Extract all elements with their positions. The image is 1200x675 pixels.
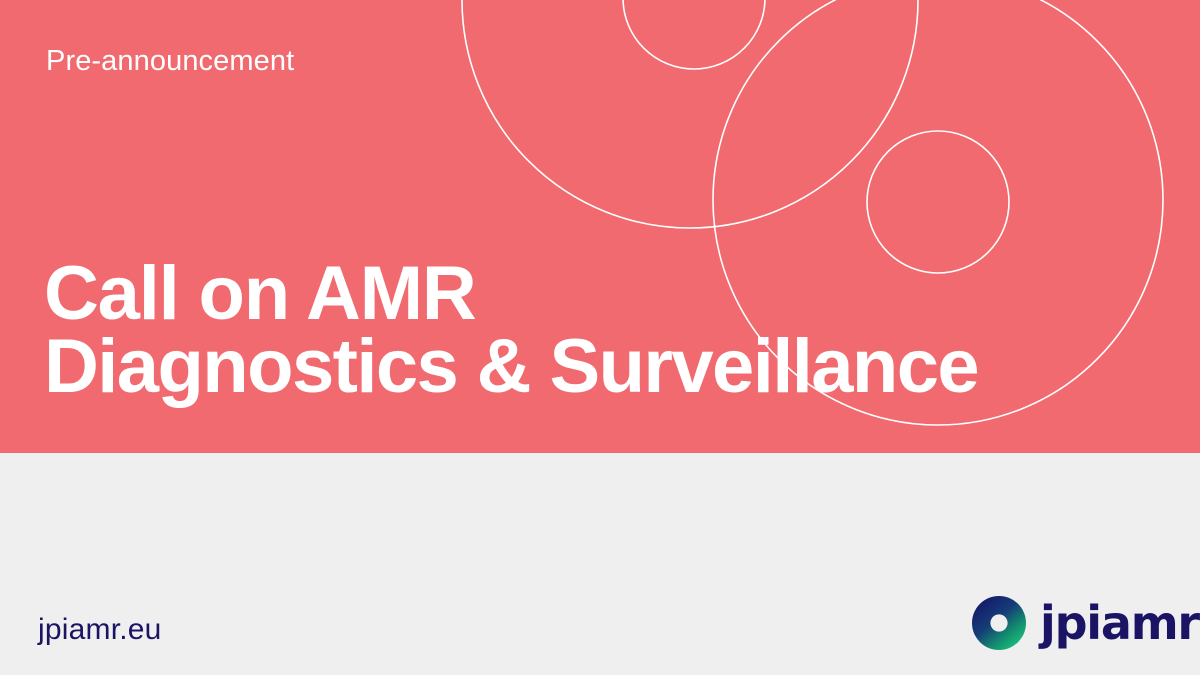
page-title: Call on AMR Diagnostics & Surveillance [44, 258, 978, 404]
jpiamr-wordmark: jpiamr [1040, 600, 1199, 646]
site-url-label: jpiamr.eu [38, 613, 162, 647]
headline-line-2: Diagnostics & Surveillance [44, 331, 978, 404]
jpiamr-logo[interactable]: jpiamr [972, 594, 1172, 652]
kicker-label: Pre-announcement [46, 44, 294, 79]
headline-line-1: Call on AMR [44, 258, 978, 331]
jpiamr-ring-icon [972, 596, 1026, 650]
preannouncement-banner: Pre-announcement Call on AMR Diagnostics… [0, 0, 1200, 675]
hero-band: Pre-announcement Call on AMR Diagnostics… [0, 0, 1200, 453]
hero-text-block: Pre-announcement Call on AMR Diagnostics… [0, 0, 1200, 453]
